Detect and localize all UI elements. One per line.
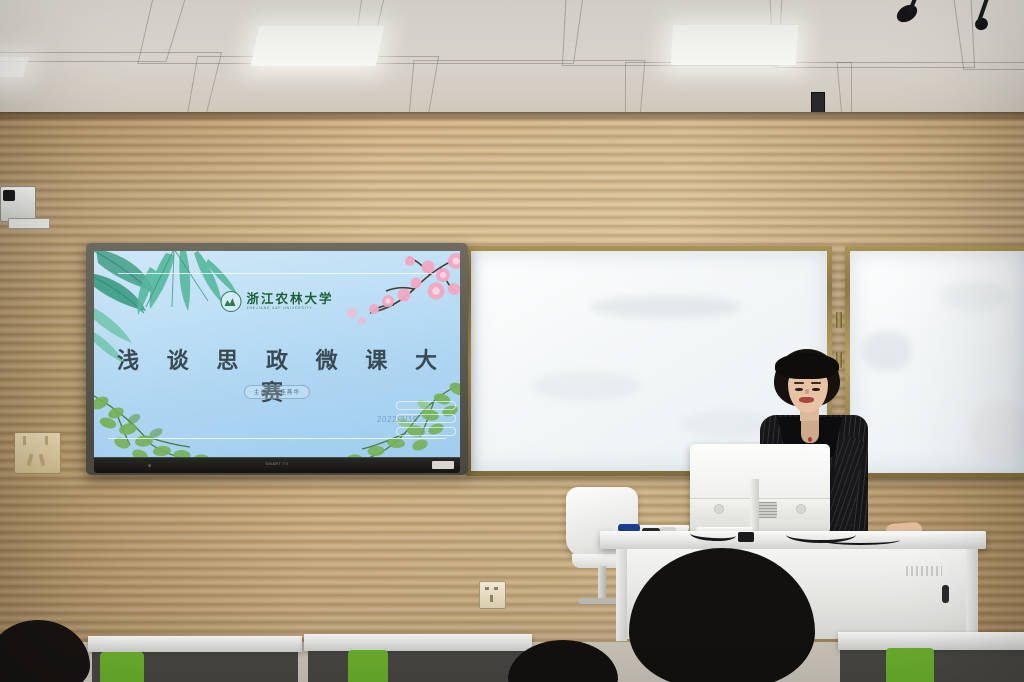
slide-date: 2022/3/15 (377, 415, 418, 424)
corner-line (396, 427, 456, 436)
teacher-chair-post (598, 566, 606, 600)
university-logo: 浙江农林大学 ZHEJIANG A&F UNIVERSITY (220, 291, 333, 312)
desk-leg (616, 549, 627, 641)
power-led-icon (148, 464, 151, 467)
ceiling-tile (407, 60, 646, 118)
outlet-slot (485, 587, 489, 590)
slide-rule-top (118, 273, 436, 274)
display-model-tag (432, 461, 454, 469)
whiteboard-smudge (940, 281, 1010, 311)
cherry-blossom-decoration (344, 251, 460, 349)
display-bezel-bottom: SMART TV (94, 458, 460, 473)
university-crest-icon (220, 291, 241, 312)
ceiling-tile (767, 0, 975, 68)
projector-lens-icon (3, 190, 15, 201)
student-chair-green[interactable] (886, 648, 934, 682)
whiteboard-smudge (591, 296, 741, 318)
necklace (803, 421, 819, 438)
desk-brand-mark (906, 566, 942, 576)
ceiling (0, 0, 1024, 118)
whiteboard-smudge (970, 401, 1024, 461)
whiteboard-surface (850, 251, 1024, 473)
led-panel-light-right (671, 25, 798, 65)
presenter-hair-fringe (775, 353, 839, 379)
student-desk[interactable] (304, 634, 532, 651)
wall-equipment-plate[interactable] (14, 432, 61, 474)
display-brand-label: SMART TV (265, 461, 288, 466)
outlet-slot (490, 595, 493, 602)
outlet-slot (494, 587, 498, 590)
cable-plug (738, 532, 754, 542)
wall-top-shadow (0, 112, 1024, 122)
necklace-pendant (808, 437, 812, 442)
university-name-chinese: 浙江农林大学 (246, 293, 333, 306)
monitor-screw (714, 504, 724, 514)
plate-detail (39, 454, 46, 467)
student-chair-green[interactable] (348, 650, 388, 682)
plate-hook (23, 436, 26, 445)
student-desk[interactable] (88, 636, 302, 652)
plate-hook (45, 436, 48, 445)
eye (795, 388, 803, 391)
whiteboard-hinge (836, 312, 842, 328)
ceiling-tile (837, 62, 1024, 118)
interactive-smart-board[interactable]: 浙江农林大学 ZHEJIANG A&F UNIVERSITY 浅 谈 思 政 微… (86, 243, 468, 475)
eyebrow (794, 382, 804, 384)
desktop-monitor[interactable] (690, 444, 830, 534)
classroom-scene: 浙江农林大学 ZHEJIANG A&F UNIVERSITY 浅 谈 思 政 微… (0, 0, 1024, 682)
projector-mount-arm (8, 218, 50, 229)
university-name-english: ZHEJIANG A&F UNIVERSITY (246, 307, 333, 310)
plate-detail (27, 454, 34, 467)
student-chair-green[interactable] (100, 652, 144, 682)
eye (812, 388, 820, 391)
nose (805, 389, 809, 394)
whiteboard-smudge (531, 371, 641, 401)
desk-cable (820, 535, 900, 545)
led-panel-light-left (251, 26, 385, 66)
power-outlet[interactable] (479, 581, 506, 609)
slide-presenter-pill: 主讲人：连燕华 (244, 385, 310, 399)
wall-mounted-projector (0, 186, 36, 222)
monitor-screw (796, 504, 806, 514)
display-screen-area[interactable]: 浙江农林大学 ZHEJIANG A&F UNIVERSITY 浅 谈 思 政 微… (94, 251, 460, 457)
desk-cable-latch[interactable] (942, 585, 949, 603)
university-logo-text: 浙江农林大学 ZHEJIANG A&F UNIVERSITY (246, 293, 333, 311)
ceiling-tile (352, 0, 590, 64)
desk-leg (966, 549, 978, 641)
mouth (799, 397, 814, 403)
student-desk-shadow (308, 651, 530, 682)
eyebrow (811, 382, 821, 384)
presentation-slide: 浙江农林大学 ZHEJIANG A&F UNIVERSITY 浅 谈 思 政 微… (94, 251, 460, 457)
